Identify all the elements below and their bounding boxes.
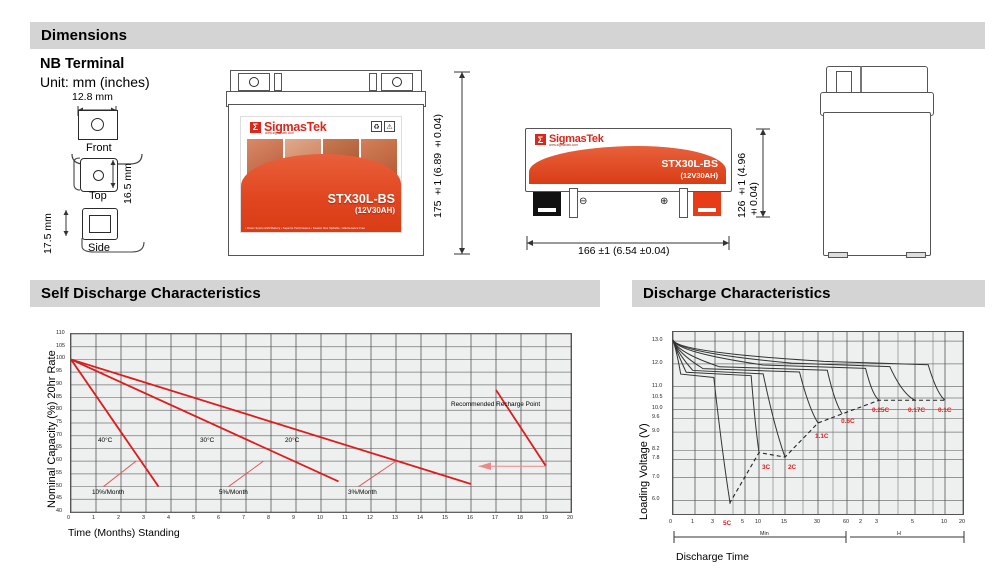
self-discharge-section-header: Self Discharge Characteristics [30, 280, 600, 307]
discharge-rate-label-2C: 2C [788, 464, 796, 471]
sdc-xtick: 6 [217, 515, 220, 521]
battery-spec-top: (12V30AH) [661, 171, 718, 180]
terminal-front-label: Front [86, 142, 112, 154]
battery-width-label: 166 ±1 (6.54 ±0.04) [578, 245, 670, 257]
dc-xtick-hour: 3 [875, 519, 878, 525]
terminal-side-label: Side [88, 242, 110, 254]
negative-terminal-slot [538, 208, 556, 212]
sdc-xtick: 11 [342, 515, 348, 521]
battery-model-block-front: STX30L-BS (12V30AH) [328, 193, 395, 216]
brand-url-top: www.sigmastek.com [549, 143, 578, 147]
sdc-xtick: 14 [417, 515, 423, 521]
battery-front-view: Σ SigmasTek www.sigmastek.com ♻ ⚠ STX30L… [226, 70, 424, 256]
discharge-section-header: Discharge Characteristics [632, 280, 985, 307]
terminal-height-dimension-arrow [105, 158, 121, 192]
sdc-ytick: 40 [56, 508, 62, 514]
annotation-40c: 40°C [98, 437, 112, 444]
battery-front-label: Σ SigmasTek www.sigmastek.com ♻ ⚠ STX30L… [240, 116, 402, 233]
self-discharge-xlabel: Time (Months) Standing [68, 527, 180, 539]
sdc-ytick: 80 [56, 406, 62, 412]
dc-xtick-min: 1 [691, 519, 694, 525]
self-discharge-plot-area [70, 333, 572, 513]
annotation-20c: 20°C [285, 437, 299, 444]
dc-ytick: 11.0 [652, 383, 662, 389]
sdc-ytick: 105 [56, 343, 65, 349]
sdc-ytick: 95 [56, 368, 62, 374]
discharge-plot-area [672, 331, 964, 515]
dc-ytick: 6.0 [652, 496, 660, 502]
discharge-rate-label-3C: 3C [762, 464, 770, 471]
sdc-xtick: 19 [542, 515, 548, 521]
brand-url: www.sigmastek.com [265, 131, 294, 135]
sdc-ytick: 65 [56, 444, 62, 450]
sdc-xtick: 4 [167, 515, 170, 521]
dc-ytick: 7.8 [652, 455, 660, 461]
discharge-rate-label-0-6C: 0.6C [841, 418, 855, 425]
sdc-xtick: 16 [467, 515, 473, 521]
label-icons: ♻ ⚠ [371, 121, 395, 132]
sdc-xtick: 15 [442, 515, 448, 521]
brand-mark-icon-top: Σ [535, 134, 546, 145]
positive-terminal-block [693, 192, 721, 216]
discharge-ylabel: Loading Voltage (V) [638, 400, 650, 520]
discharge-xlabel: Discharge Time [676, 551, 749, 563]
battery-model-front: STX30L-BS [328, 193, 395, 206]
self-discharge-title: Self Discharge Characteristics [30, 285, 261, 302]
battery-top-label: Σ SigmasTek www.sigmastek.com STX30L-BS … [529, 131, 726, 184]
dc-xtick-min: 3 [711, 519, 714, 525]
dc-ytick: 9.0 [652, 428, 660, 434]
discharge-rate-label-0-17C: 0.17C [908, 407, 925, 414]
annotation-10pct-month: 10%/Month [92, 489, 124, 496]
dc-ytick: 10.0 [652, 405, 663, 411]
dc-xtick-min: 0 [669, 519, 672, 525]
dimensions-section-header: Dimensions [30, 22, 985, 49]
caution-icon: ⚠ [384, 121, 395, 132]
annotation-30c: 30°C [200, 437, 214, 444]
sdc-ytick: 75 [56, 419, 62, 425]
sdc-xtick: 20 [567, 515, 573, 521]
sdc-xtick: 5 [192, 515, 195, 521]
battery-top-view: Σ SigmasTek www.sigmastek.com STX30L-BS … [525, 128, 730, 221]
sdc-xtick: 10 [317, 515, 323, 521]
dc-xtick-hour: 5 [911, 519, 914, 525]
terminal-side-dimension-arrow [58, 208, 74, 240]
sdc-xtick: 13 [392, 515, 398, 521]
battery-model-top: STX30L-BS [661, 159, 718, 171]
dc-xtick-hour: 2 [859, 519, 862, 525]
battery-height-dimension [448, 66, 478, 261]
sdc-ytick: 55 [56, 470, 62, 476]
sdc-xtick: 1 [92, 515, 95, 521]
sdc-ytick: 85 [56, 394, 62, 400]
dc-ytick: 12.0 [652, 360, 663, 366]
annotation-5pct-month: 5%/Month [219, 489, 248, 496]
dc-xtick-hour: 10 [941, 519, 947, 525]
sdc-ytick: 70 [56, 432, 62, 438]
terminal-side-view [70, 208, 180, 254]
battery-spec-front: (12V30AH) [328, 206, 395, 216]
dc-xtick-min: 60 [843, 519, 849, 525]
sdc-xtick: 8 [267, 515, 270, 521]
dc-ytick: 8.2 [652, 446, 660, 452]
terminal-front-view [70, 110, 170, 150]
sdc-xtick: 7 [242, 515, 245, 521]
sdc-ytick: 60 [56, 457, 62, 463]
discharge-rate-label-5C: 5C [723, 520, 731, 527]
sdc-xtick: 18 [517, 515, 523, 521]
terminal-width-label: 12.8 mm [72, 91, 113, 103]
dc-xtick-hour: 20 [959, 519, 965, 525]
battery-depth-label: 126 ±1 (4.96 ±0.04) [736, 128, 760, 218]
dc-xtick-min: 30 [814, 519, 820, 525]
sdc-xtick: 2 [117, 515, 120, 521]
terminal-unit-label: Unit: mm (inches) [40, 74, 150, 90]
terminal-side-dim-label: 17.5 mm [42, 208, 54, 254]
dc-xtick-min: 5 [741, 519, 744, 525]
dc-xtick-min: 15 [781, 519, 787, 525]
sdc-ytick: 45 [56, 495, 62, 501]
dc-xtick-min: 10 [755, 519, 761, 525]
dimensions-title: Dimensions [30, 27, 127, 44]
sdc-xtick: 3 [142, 515, 145, 521]
discharge-rate-label-0-25C: 0.25C [872, 407, 889, 414]
battery-height-label: 175 ±1 (6.89 ±0.04) [432, 108, 444, 218]
sdc-ytick: 50 [56, 483, 62, 489]
dc-ytick: 7.0 [652, 474, 660, 480]
positive-terminal-slot [698, 208, 716, 212]
dc-ytick: 9.6 [652, 414, 660, 420]
discharge-axis-group-bar [668, 528, 968, 546]
discharge-rate-label-0-1C: 0.1C [938, 407, 952, 414]
brand-mark-icon: Σ [250, 122, 261, 133]
sdc-xtick: 12 [367, 515, 373, 521]
recycle-icon: ♻ [371, 121, 382, 132]
annotation-recharge-point: Recommended Recharge Point [451, 401, 540, 408]
negative-polarity-icon: ⊖ [579, 196, 587, 207]
dc-ytick: 13.0 [652, 337, 663, 343]
sdc-xtick: 9 [292, 515, 295, 521]
battery-model-block-top: STX30L-BS (12V30AH) [661, 159, 718, 180]
negative-terminal-block [533, 192, 561, 216]
sdc-ytick: 110 [56, 330, 65, 336]
positive-polarity-icon: ⊕ [660, 196, 668, 207]
sdc-ytick: 90 [56, 381, 62, 387]
battery-side-silhouette [820, 66, 932, 262]
discharge-title: Discharge Characteristics [632, 285, 831, 302]
terminal-height-label: 16.5 mm [122, 158, 134, 204]
battery-tagline: • Power Sports AGM Battery • Superior Pe… [245, 227, 397, 230]
discharge-rate-label-1-1C: 1.1C [815, 433, 829, 440]
dc-ytick: 10.5 [652, 394, 663, 400]
sdc-xtick: 17 [492, 515, 498, 521]
annotation-3pct-month: 3%/Month [348, 489, 377, 496]
sdc-xtick: 0 [67, 515, 70, 521]
sdc-ytick: 100 [56, 355, 65, 361]
terminal-title: NB Terminal [40, 56, 124, 72]
